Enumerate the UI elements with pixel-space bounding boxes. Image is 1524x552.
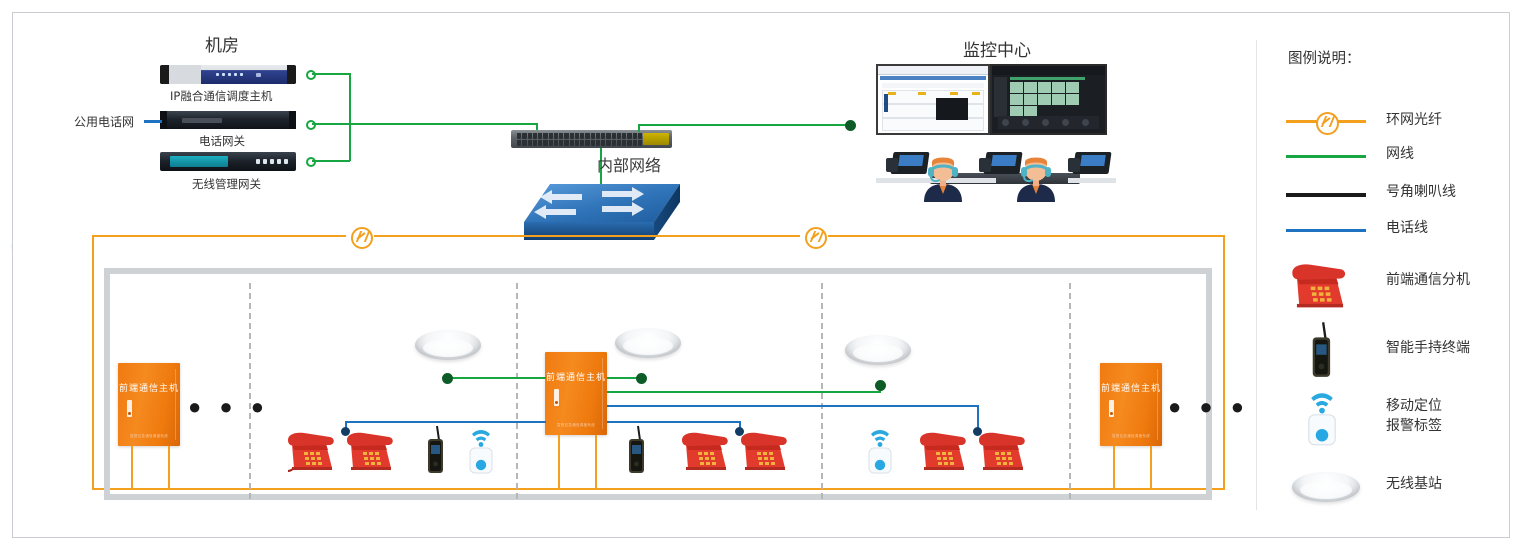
network-port-dot-wireless-gw — [306, 157, 316, 167]
field-cabinet-1: 前端通信主机 智慧应急通信调度系统 — [118, 363, 180, 446]
wireless-ap-icon — [1292, 472, 1360, 502]
field-cabinet-3-sublabel: 智慧应急通信调度系统 — [1100, 434, 1162, 439]
location-alarm-tag-2 — [865, 424, 895, 474]
telephone-cable-mid-run — [607, 421, 740, 423]
ring-fiber-node-icon-left — [351, 227, 373, 249]
ring-fiber-right — [1223, 235, 1225, 489]
legend-item-wireless-ap: 无线基站 — [1286, 470, 1506, 510]
telephone-line-public — [144, 120, 162, 123]
field-cabinet-1-ellipsis: ● ● ● — [188, 396, 270, 418]
operator-avatar-1 — [920, 156, 966, 202]
ring-fiber-top-left — [92, 235, 346, 237]
field-cabinet-3-ellipsis: ● ● ● — [1168, 396, 1250, 418]
tunnel-divider-4 — [1069, 283, 1071, 499]
network-endpoint-dot-monitor-center — [845, 120, 856, 131]
device-telephone-gateway-label: 电话网关 — [199, 133, 245, 149]
wireless-ap-2 — [615, 328, 681, 358]
handheld-terminal-2 — [625, 424, 649, 474]
legend-item-telephone-cable: 电话线 — [1286, 220, 1506, 242]
desk-surface-right — [1068, 178, 1116, 183]
network-cable-ap1 — [446, 377, 546, 379]
device-ip-dispatch-host-label: IP融合通信调度主机 — [170, 88, 272, 104]
legend-item-red-telephone-label: 前端通信分机 — [1386, 272, 1470, 290]
network-cable-ip-host — [312, 73, 350, 75]
field-telephone-4 — [739, 424, 791, 472]
field-cabinet-3-label: 前端通信主机 — [1100, 381, 1162, 394]
core-switch-48port — [511, 130, 672, 148]
wireless-ap-3 — [845, 335, 911, 365]
field-cabinet-2-label: 前端通信主机 — [545, 370, 607, 383]
device-ip-dispatch-host — [160, 65, 296, 84]
core-network-switch — [520, 182, 684, 252]
field-telephone-5 — [918, 424, 970, 472]
fiber-drop-2b — [595, 435, 597, 488]
legend-item-red-telephone: 前端通信分机 — [1286, 254, 1506, 316]
location-tag-icon — [1304, 386, 1340, 446]
internal-network-label: 内部网络 — [597, 152, 661, 176]
ring-fiber-top-mid — [374, 235, 800, 237]
monitor-center-title: 监控中心 — [963, 36, 1031, 61]
cabinet-handle — [1109, 400, 1114, 417]
monitor-screen-right — [990, 64, 1107, 135]
fiber-drop-1b — [168, 446, 170, 488]
telephone-cable-icon — [1286, 229, 1366, 232]
legend-item-location-tag: 移动定位 报警标签 — [1286, 386, 1506, 456]
network-port-dot-ip-host — [306, 70, 316, 80]
wireless-ap-1 — [415, 330, 481, 360]
cabinet-handle — [554, 389, 559, 406]
diagram-canvas: 机房 IP融合通信调度主机 电话网关 无线管理网关 公用电话网 — [0, 0, 1524, 552]
network-cable-to-monitor-center — [638, 124, 850, 126]
ring-fiber-left — [92, 235, 94, 489]
network-port-dot-telephone-gw — [306, 120, 316, 130]
red-telephone-icon — [1290, 254, 1350, 310]
ring-fiber-top-right — [828, 235, 1224, 237]
network-cable-riser — [349, 73, 351, 161]
ring-fiber-node-icon — [1316, 112, 1339, 135]
field-telephone-3 — [680, 424, 732, 472]
field-cabinet-3: 前端通信主机 智慧应急通信调度系统 — [1100, 363, 1162, 446]
ring-fiber-node-icon-right — [805, 227, 827, 249]
legend-panel: 图例说明： 环网光纤 网线 号角喇叭线 电话线 — [1264, 20, 1510, 530]
field-cabinet-1-label: 前端通信主机 — [118, 381, 180, 394]
network-endpoint-dot-ap2 — [636, 373, 647, 384]
field-telephone-2 — [345, 424, 397, 472]
legend-item-ring-fiber: 环网光纤 — [1286, 112, 1506, 134]
network-cable-wireless-gw — [312, 160, 350, 162]
fiber-drop-3a — [1113, 446, 1115, 488]
device-wireless-gateway — [160, 152, 296, 171]
fiber-drop-2a — [558, 435, 560, 488]
legend-item-telephone-cable-label: 电话线 — [1386, 220, 1428, 238]
tunnel-enclosure — [104, 268, 1212, 500]
handheld-terminal-1 — [424, 424, 448, 474]
network-endpoint-dot-ap1 — [442, 373, 453, 384]
legend-item-handheld: 智能手持终端 — [1286, 320, 1506, 382]
desk-phone-3 — [1068, 148, 1110, 174]
location-alarm-tag-1 — [466, 424, 496, 474]
legend-item-location-tag-label-2: 报警标签 — [1386, 418, 1442, 436]
equipment-room-title: 机房 — [205, 31, 239, 56]
telephone-cable-right-run — [607, 405, 979, 407]
operator-avatar-2 — [1013, 156, 1059, 202]
legend-item-network-cable: 网线 — [1286, 146, 1506, 168]
horn-speaker-cable-icon — [1286, 193, 1366, 197]
legend-item-ring-fiber-label: 环网光纤 — [1386, 112, 1442, 130]
field-telephone-1 — [286, 424, 338, 472]
tunnel-divider-1 — [249, 283, 251, 499]
handheld-terminal-icon — [1308, 320, 1336, 378]
legend-item-handheld-label: 智能手持终端 — [1386, 340, 1470, 358]
legend-item-wireless-ap-label: 无线基站 — [1386, 476, 1442, 494]
legend-item-network-cable-label: 网线 — [1386, 146, 1414, 164]
legend-item-location-tag-label-1: 移动定位 — [1386, 398, 1442, 416]
cabinet-seam — [1157, 369, 1158, 440]
device-telephone-gateway — [160, 111, 296, 129]
network-endpoint-dot-ap3 — [875, 380, 886, 391]
field-cabinet-2: 前端通信主机 智慧应急通信调度系统 — [545, 352, 607, 435]
field-telephone-6 — [977, 424, 1029, 472]
cabinet-seam — [175, 369, 176, 440]
fiber-drop-3b — [1150, 446, 1152, 488]
tunnel-divider-2 — [516, 283, 518, 499]
cabinet-seam — [602, 358, 603, 429]
telephone-cable-left-run — [345, 421, 546, 423]
public-phone-network-label: 公用电话网 — [74, 113, 134, 130]
field-cabinet-1-sublabel: 智慧应急通信调度系统 — [118, 434, 180, 439]
network-cable-trunk-to-switch — [312, 123, 537, 125]
device-wireless-gateway-label: 无线管理网关 — [192, 176, 261, 192]
fiber-drop-1a — [131, 446, 133, 488]
cabinet-handle — [127, 400, 132, 417]
monitor-screen-left — [876, 64, 990, 135]
legend-item-horn-cable-label: 号角喇叭线 — [1386, 184, 1456, 202]
legend-title: 图例说明： — [1288, 47, 1361, 68]
legend-item-horn-cable: 号角喇叭线 — [1286, 184, 1506, 206]
network-cable-icon — [1286, 155, 1366, 158]
field-cabinet-2-sublabel: 智慧应急通信调度系统 — [545, 423, 607, 428]
network-cable-ap3-run — [607, 391, 881, 393]
